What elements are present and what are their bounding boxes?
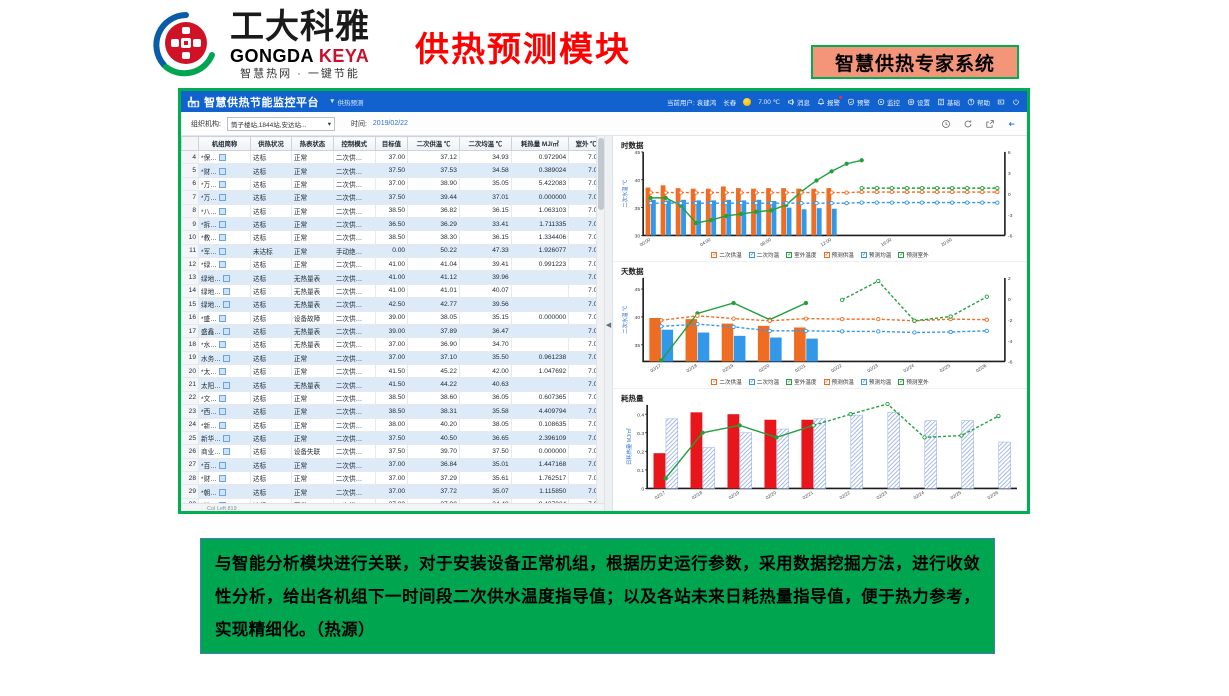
- topbar-item-logout[interactable]: [997, 98, 1005, 106]
- cell-unit-name: *教…: [199, 231, 251, 244]
- legend-checkbox[interactable]: [749, 379, 755, 385]
- cell-target: 37.50: [375, 191, 407, 204]
- brand-text: 工大科雅 GONGDA KEYA 智慧热网 · 一键节能: [230, 10, 370, 80]
- row-index: 24: [182, 418, 199, 431]
- cell-supply-temp: 42.77: [408, 298, 460, 311]
- cell-supply-temp: 37.89: [408, 324, 460, 337]
- cell-avg-temp: 33.41: [459, 217, 511, 230]
- svg-text:02/25: 02/25: [950, 489, 963, 499]
- chart-legend-daily: 二次供温二次均温室外温度预测供温预测均温预测室外: [613, 378, 1027, 386]
- svg-text:35: 35: [635, 343, 641, 349]
- row-index: 18: [182, 338, 199, 351]
- detail-icon[interactable]: [223, 355, 230, 362]
- cell-supply-temp: 41.01: [408, 284, 460, 297]
- cell-unit-name: *盛…: [199, 311, 251, 324]
- legend-checkbox[interactable]: [824, 379, 830, 385]
- table-row[interactable]: 17盛鑫…达标无热量表二次供…39.0037.8936.477.00: [182, 324, 604, 337]
- cell-supply-status: 达标: [251, 258, 292, 271]
- cell-supply-status: 达标: [251, 191, 292, 204]
- chevron-down-icon: ▾: [328, 120, 331, 128]
- cell-avg-temp: 47.33: [459, 244, 511, 257]
- cell-heat: 0.000000: [511, 191, 569, 204]
- cell-supply-status: 达标: [251, 324, 292, 337]
- detail-icon[interactable]: [219, 234, 226, 241]
- topbar-item-basic[interactable]: 基础: [937, 97, 960, 107]
- brand-name-cn: 工大科雅: [230, 10, 370, 44]
- cell-control-mode: 二次供…: [333, 378, 375, 391]
- legend-checkbox[interactable]: [861, 252, 867, 258]
- detail-icon[interactable]: [219, 181, 226, 188]
- cell-target: 38.00: [375, 418, 407, 431]
- cell-supply-status: 达标: [251, 271, 292, 284]
- cell-avg-temp: 39.56: [459, 298, 511, 311]
- table-row[interactable]: 11*军…未达标正常手动绝…0.0050.2247.331.9260777.00: [182, 244, 604, 257]
- cell-control-mode: 二次供…: [333, 418, 375, 431]
- cell-heat: [511, 338, 569, 351]
- svg-text:02/21: 02/21: [794, 363, 807, 373]
- cell-meter-status: 正常: [291, 231, 333, 244]
- table-scrollbar-thumb[interactable]: [598, 138, 604, 210]
- cell-heat: 0.108635: [511, 418, 569, 431]
- legend-item[interactable]: 预测均温: [861, 251, 891, 259]
- legend-checkbox[interactable]: [824, 252, 830, 258]
- cell-unit-name: *朝…: [199, 485, 251, 498]
- cell-supply-status: 达标: [251, 177, 292, 190]
- svg-text:0.2: 0.2: [637, 449, 644, 455]
- cell-supply-temp: 39.44: [408, 191, 460, 204]
- table-row[interactable]: 21太阳…达标无热量表二次供…41.5044.2240.637.00: [182, 378, 604, 391]
- row-index: 27: [182, 458, 199, 471]
- topbar-item-messages-label: 消息: [797, 97, 810, 107]
- row-index: 13: [182, 271, 199, 284]
- table-row[interactable]: 9*拆…达标正常二次供…36.5036.2933.411.7113357.00: [182, 217, 604, 230]
- cell-meter-status: 正常: [291, 458, 333, 471]
- legend-item[interactable]: 预测均温: [861, 378, 891, 386]
- topbar-item-monitor[interactable]: 监控: [877, 97, 900, 107]
- cell-heat: 1.711335: [511, 217, 569, 230]
- unit-table-pane: 机组简称 供热状况 热表状态 控制模式 目标值 二次供温 ℃ 二次均温 ℃ 耗热…: [181, 136, 605, 514]
- cell-supply-temp: 36.29: [408, 217, 460, 230]
- cell-meter-status: 正常: [291, 418, 333, 431]
- cell-control-mode: 二次供…: [333, 298, 375, 311]
- cell-supply-status: 达标: [251, 445, 292, 458]
- cell-control-mode: 二次供…: [333, 151, 375, 164]
- cell-supply-status: 达标: [251, 405, 292, 418]
- cell-control-mode: 二次供…: [333, 231, 375, 244]
- chart-heat: 00.10.20.30.4日耗热量 MJ/㎡02/1702/1802/1902/…: [613, 389, 1027, 514]
- cell-target: 37.50: [375, 431, 407, 444]
- detail-icon[interactable]: [223, 288, 230, 295]
- cell-avg-temp: 34.58: [459, 164, 511, 177]
- cell-meter-status: 正常: [291, 204, 333, 217]
- cell-supply-status: 达标: [251, 431, 292, 444]
- export-icon[interactable]: [985, 119, 995, 129]
- legend-label: 二次均温: [757, 251, 779, 259]
- cell-control-mode: 二次供…: [333, 365, 375, 378]
- cell-avg-temp: 39.96: [459, 271, 511, 284]
- row-index: 26: [182, 445, 199, 458]
- col-target[interactable]: 目标值: [375, 137, 407, 151]
- cell-meter-status: 正常: [291, 391, 333, 404]
- time-value[interactable]: 2019/02/22: [373, 120, 408, 127]
- table-row[interactable]: 10*教…达标正常二次供…38.5038.3036.151.3344067.00: [182, 231, 604, 244]
- cell-meter-status: 正常: [291, 431, 333, 444]
- cell-supply-temp: 37.10: [408, 351, 460, 364]
- cell-supply-status: 达标: [251, 204, 292, 217]
- table-row[interactable]: 26商业…达标设备失联二次供…37.5039.7037.500.0000007.…: [182, 445, 604, 458]
- pane-collapse-handle[interactable]: ◀: [605, 136, 613, 514]
- cell-target: 39.00: [375, 324, 407, 337]
- cell-avg-temp: 40.07: [459, 284, 511, 297]
- legend-label: 预测均温: [869, 251, 891, 259]
- current-user-name: 袁建鸿: [697, 97, 717, 107]
- table-row[interactable]: 7*万…达标正常二次供…37.5039.4437.010.0000007.00: [182, 191, 604, 204]
- cell-target: 41.00: [375, 284, 407, 297]
- detail-icon[interactable]: [223, 448, 230, 455]
- detail-icon[interactable]: [219, 408, 226, 415]
- factory-chart-icon: [187, 95, 200, 108]
- cell-unit-name: 盛鑫…: [199, 324, 251, 337]
- collapse-arrow-icon[interactable]: [1007, 119, 1017, 129]
- cell-supply-temp: 38.60: [408, 391, 460, 404]
- detail-icon[interactable]: [223, 328, 230, 335]
- detail-icon[interactable]: [219, 462, 226, 469]
- row-index: 4: [182, 151, 199, 164]
- table-row[interactable]: 28*财…达标正常二次供…37.0037.2935.611.7625177.00: [182, 472, 604, 485]
- cell-unit-name: *万…: [199, 191, 251, 204]
- cell-unit-name: *财…: [199, 164, 251, 177]
- cell-target: 38.50: [375, 391, 407, 404]
- cell-meter-status: 正常: [291, 485, 333, 498]
- table-row[interactable]: 12*绿…达标正常二次供…41.0041.0439.410.9912237.00: [182, 258, 604, 271]
- legend-label: 预测供温: [832, 251, 854, 259]
- col-heat[interactable]: 耗热量 MJ/㎡: [511, 137, 569, 151]
- cell-control-mode: 二次供…: [333, 324, 375, 337]
- table-row[interactable]: 8*八…达标正常二次供…38.5036.8236.151.0631037.00: [182, 204, 604, 217]
- table-row[interactable]: 5*财…达标正常二次供…37.5037.5334.580.3890247.00: [182, 164, 604, 177]
- col-control-mode[interactable]: 控制模式: [333, 137, 375, 151]
- col-unit-name[interactable]: 机组简称: [199, 137, 251, 151]
- cell-unit-name: 水务…: [199, 351, 251, 364]
- col-avg-temp[interactable]: 二次均温 ℃: [459, 137, 511, 151]
- cell-supply-status: 达标: [251, 338, 292, 351]
- table-scrollbar[interactable]: [596, 136, 604, 514]
- legend-label: 二次供温: [719, 378, 741, 386]
- legend-item[interactable]: 二次均温: [749, 251, 779, 259]
- cell-unit-name: *水…: [199, 338, 251, 351]
- topbar-item-messages[interactable]: 消息: [787, 97, 810, 107]
- cell-control-mode: 二次供…: [333, 217, 375, 230]
- city-label: 长春: [723, 97, 736, 107]
- cell-target: 36.50: [375, 217, 407, 230]
- topbar-item-basic-label: 基础: [947, 97, 960, 107]
- cell-avg-temp: 36.65: [459, 431, 511, 444]
- cell-unit-name: *八…: [199, 204, 251, 217]
- svg-text:0.3: 0.3: [637, 431, 644, 437]
- detail-icon[interactable]: [219, 248, 226, 255]
- cell-supply-temp: 41.04: [408, 258, 460, 271]
- cell-control-mode: 二次供…: [333, 445, 375, 458]
- cell-meter-status: 正常: [291, 351, 333, 364]
- table-row[interactable]: 6*万…达标正常二次供…37.0038.9035.055.4220837.00: [182, 177, 604, 190]
- legend-item[interactable]: 预测供温: [824, 378, 854, 386]
- svg-text:30: 30: [635, 234, 641, 240]
- cell-target: 42.50: [375, 298, 407, 311]
- detail-icon[interactable]: [219, 261, 226, 268]
- cell-meter-status: 设备失联: [291, 445, 333, 458]
- cell-supply-status: 达标: [251, 418, 292, 431]
- row-index: 7: [182, 191, 199, 204]
- topbar-item-alarm[interactable]: 报警: [817, 97, 840, 107]
- org-select[interactable]: 筒子楼站,1844站,安达站... ▾: [227, 117, 335, 131]
- detail-icon[interactable]: [219, 368, 226, 375]
- legend-label: 室外温度: [794, 378, 816, 386]
- cell-unit-name: *万…: [199, 177, 251, 190]
- row-index: 19: [182, 351, 199, 364]
- cell-control-mode: 二次供…: [333, 391, 375, 404]
- cell-control-mode: 二次供…: [333, 351, 375, 364]
- cell-supply-status: 未达标: [251, 244, 292, 257]
- cell-supply-temp: 39.70: [408, 445, 460, 458]
- brand-name-en-keya: KEYA: [319, 46, 369, 66]
- brand-block: 工大科雅 GONGDA KEYA 智慧热网 · 一键节能: [152, 10, 370, 80]
- table-row[interactable]: 19水务…达标正常二次供…37.0037.1035.500.9612387.00: [182, 351, 604, 364]
- legend-checkbox[interactable]: [786, 252, 792, 258]
- cell-heat: 0.389024: [511, 164, 569, 177]
- cell-meter-status: 正常: [291, 365, 333, 378]
- caption-box: 与智能分析模块进行关联，对于安装设备正常机组，根据历史运行参数，采用数据挖掘方法…: [200, 538, 995, 654]
- cell-control-mode: 二次供…: [333, 164, 375, 177]
- detail-icon[interactable]: [219, 422, 226, 429]
- legend-item[interactable]: 预测室外: [898, 251, 928, 259]
- cell-heat: 0.972904: [511, 151, 569, 164]
- cell-supply-status: 达标: [251, 151, 292, 164]
- cell-meter-status: 正常: [291, 164, 333, 177]
- detail-icon[interactable]: [223, 301, 230, 308]
- cell-target: 41.50: [375, 378, 407, 391]
- svg-text:45: 45: [635, 150, 641, 156]
- detail-icon[interactable]: [219, 341, 226, 348]
- legend-item[interactable]: 二次供温: [711, 251, 741, 259]
- detail-icon[interactable]: [219, 395, 226, 402]
- cell-heat: 4.409794: [511, 405, 569, 418]
- table-row[interactable]: 13绿地…达标无热量表二次供…41.0041.1239.967.00: [182, 271, 604, 284]
- cell-meter-status: 无热量表: [291, 284, 333, 297]
- detail-icon[interactable]: [219, 208, 226, 215]
- topbar-item-warning[interactable]: 预警: [847, 97, 870, 107]
- table-row[interactable]: 29*朝…达标正常二次供…37.0037.7235.071.1158507.00: [182, 485, 604, 498]
- legend-item[interactable]: 室外温度: [786, 378, 816, 386]
- cell-supply-temp: 40.20: [408, 418, 460, 431]
- cell-control-mode: 二次供…: [333, 204, 375, 217]
- legend-checkbox[interactable]: [749, 252, 755, 258]
- row-index: 28: [182, 472, 199, 485]
- cell-heat: [511, 378, 569, 391]
- svg-text:0: 0: [1008, 297, 1011, 303]
- cell-control-mode: 二次供…: [333, 431, 375, 444]
- legend-label: 预测供温: [832, 378, 854, 386]
- cell-control-mode: 手动绝…: [333, 244, 375, 257]
- legend-item[interactable]: 预测供温: [824, 251, 854, 259]
- gear-icon: [907, 98, 915, 106]
- cell-unit-name: 绿地…: [199, 271, 251, 284]
- row-index: 20: [182, 365, 199, 378]
- charts-pane: 时数据 30354045-6-3036二次水温 ℃00:0004:0008:00…: [613, 136, 1027, 514]
- cell-heat: [511, 298, 569, 311]
- legend-item[interactable]: 二次均温: [749, 378, 779, 386]
- bell-icon: [817, 98, 825, 106]
- col-supply-status[interactable]: 供热状况: [251, 137, 292, 151]
- legend-label: 预测室外: [906, 251, 928, 259]
- legend-item[interactable]: 室外温度: [786, 251, 816, 259]
- detail-icon[interactable]: [223, 275, 230, 282]
- table-row[interactable]: 23*西…达标正常二次供…38.5038.3135.584.4097947.00: [182, 405, 604, 418]
- row-index: 17: [182, 324, 199, 337]
- cell-unit-name: 绿地…: [199, 284, 251, 297]
- table-row[interactable]: 25新华…达标正常二次供…37.5040.5036.652.3961097.00: [182, 431, 604, 444]
- table-row[interactable]: 22*文…达标正常二次供…38.5038.6036.050.6073657.00: [182, 391, 604, 404]
- topbar-item-help[interactable]: 帮助: [967, 97, 990, 107]
- chart-card-hourly: 时数据 30354045-6-3036二次水温 ℃00:0004:0008:00…: [613, 136, 1027, 262]
- detail-icon[interactable]: [219, 154, 226, 161]
- history-icon[interactable]: [941, 119, 951, 129]
- detail-icon[interactable]: [219, 489, 226, 496]
- refresh-icon[interactable]: [963, 119, 973, 129]
- cell-control-mode: 二次供…: [333, 284, 375, 297]
- current-user-label: 当前用户:: [667, 97, 695, 107]
- cell-target: 37.00: [375, 472, 407, 485]
- cell-avg-temp: 35.15: [459, 311, 511, 324]
- cell-meter-status: 正常: [291, 191, 333, 204]
- cell-supply-temp: 37.72: [408, 485, 460, 498]
- org-label: 组织机构:: [191, 119, 221, 129]
- chart-card-daily: 天数据 354045-6-4-202二次水温 ℃02/1702/1802/190…: [613, 262, 1027, 388]
- table-header-row: 机组简称 供热状况 热表状态 控制模式 目标值 二次供温 ℃ 二次均温 ℃ 耗热…: [182, 137, 604, 151]
- detail-icon[interactable]: [219, 315, 226, 322]
- cell-avg-temp: 39.41: [459, 258, 511, 271]
- svg-text:02/19: 02/19: [722, 363, 735, 373]
- detail-icon[interactable]: [219, 221, 226, 228]
- table-row[interactable]: 20*太…达标正常二次供…41.5045.2242.001.0476927.00: [182, 365, 604, 378]
- cell-target: 37.00: [375, 351, 407, 364]
- topbar-item-alarm-label: 报警: [827, 97, 840, 107]
- brand-name-en: GONGDA KEYA: [230, 47, 370, 65]
- cell-target: 37.50: [375, 164, 407, 177]
- cell-heat: 5.422083: [511, 177, 569, 190]
- cell-heat: [511, 324, 569, 337]
- detail-icon[interactable]: [223, 435, 230, 442]
- legend-label: 二次供温: [719, 251, 741, 259]
- cell-avg-temp: 34.93: [459, 151, 511, 164]
- table-footer: Col Left 819: [181, 503, 604, 514]
- cell-target: 37.00: [375, 338, 407, 351]
- cell-unit-name: *太…: [199, 365, 251, 378]
- cell-avg-temp: 35.58: [459, 405, 511, 418]
- table-row[interactable]: 15绿地…达标无热量表二次供…42.5042.7739.567.00: [182, 298, 604, 311]
- topbar-item-settings[interactable]: 设置: [907, 97, 930, 107]
- monitor-icon: [877, 98, 885, 106]
- module-selector[interactable]: ▼ 供热预测: [329, 97, 363, 107]
- svg-text:45: 45: [635, 288, 641, 294]
- legend-item[interactable]: 预测室外: [898, 378, 928, 386]
- cell-supply-temp: 45.22: [408, 365, 460, 378]
- legend-item[interactable]: 二次供温: [711, 378, 741, 386]
- cell-control-mode: 二次供…: [333, 271, 375, 284]
- cell-control-mode: 二次供…: [333, 472, 375, 485]
- legend-checkbox[interactable]: [711, 252, 717, 258]
- megaphone-icon: [787, 98, 795, 106]
- cell-meter-status: 正常: [291, 405, 333, 418]
- chart-hourly: 30354045-6-3036二次水温 ℃00:0004:0008:0012:0…: [613, 136, 1027, 261]
- row-index: 12: [182, 258, 199, 271]
- detail-icon[interactable]: [223, 382, 230, 389]
- svg-text:0.1: 0.1: [637, 468, 644, 474]
- svg-text:02/20: 02/20: [758, 363, 771, 373]
- cell-avg-temp: 35.61: [459, 472, 511, 485]
- cell-heat: 1.447168: [511, 458, 569, 471]
- topbar-item-power[interactable]: [1012, 98, 1020, 106]
- table-row[interactable]: 27*百…达标正常二次供…37.0036.8435.011.4471687.00: [182, 458, 604, 471]
- panel-actions: [941, 119, 1027, 129]
- detail-icon[interactable]: [219, 168, 226, 175]
- col-index[interactable]: [182, 137, 199, 151]
- app-topbar: 智慧供热节能监控平台 ▼ 供热预测 当前用户: 袁建鸿 长春 7.00 ℃ 消息…: [181, 91, 1027, 112]
- row-index: 21: [182, 378, 199, 391]
- col-supply-temp[interactable]: 二次供温 ℃: [408, 137, 460, 151]
- col-meter-status[interactable]: 热表状态: [291, 137, 333, 151]
- sun-icon: [743, 98, 751, 106]
- legend-checkbox[interactable]: [711, 379, 717, 385]
- svg-text:02/18: 02/18: [691, 489, 704, 499]
- legend-checkbox[interactable]: [786, 379, 792, 385]
- legend-checkbox[interactable]: [898, 252, 904, 258]
- table-row[interactable]: 14绿地…达标无热量表二次供…41.0041.0140.077.00: [182, 284, 604, 297]
- cell-supply-status: 达标: [251, 284, 292, 297]
- cell-meter-status: 正常: [291, 151, 333, 164]
- cell-unit-name: *西…: [199, 405, 251, 418]
- detail-icon[interactable]: [219, 475, 226, 482]
- cell-unit-name: 绿地…: [199, 298, 251, 311]
- svg-text:02/23: 02/23: [876, 489, 889, 499]
- cell-avg-temp: 36.15: [459, 231, 511, 244]
- status-badge: 智慧供热专家系统: [811, 45, 1019, 79]
- cell-target: 41.50: [375, 365, 407, 378]
- detail-icon[interactable]: [219, 194, 226, 201]
- cell-unit-name: 太阳…: [199, 378, 251, 391]
- cell-heat: 0.607365: [511, 391, 569, 404]
- cell-avg-temp: 35.01: [459, 458, 511, 471]
- chevron-down-icon: ▼: [329, 98, 335, 105]
- legend-checkbox[interactable]: [898, 379, 904, 385]
- cell-heat: [511, 271, 569, 284]
- table-row[interactable]: 24*新…达标正常二次供…38.0040.2038.050.1086357.00: [182, 418, 604, 431]
- table-row[interactable]: 18*水…达标无热量表二次供…37.0036.9034.707.00: [182, 338, 604, 351]
- cell-avg-temp: 36.05: [459, 391, 511, 404]
- cell-avg-temp: 35.50: [459, 351, 511, 364]
- brand-name-en-gongda: GONGDA: [230, 46, 319, 66]
- cell-supply-status: 达标: [251, 391, 292, 404]
- table-row[interactable]: 4*保…达标正常二次供…37.0037.1234.930.9729047.00: [182, 151, 604, 164]
- legend-checkbox[interactable]: [861, 379, 867, 385]
- cell-target: 41.00: [375, 271, 407, 284]
- topbar-item-settings-label: 设置: [917, 97, 930, 107]
- row-index: 6: [182, 177, 199, 190]
- svg-text:00:00: 00:00: [639, 237, 652, 247]
- svg-text:02/23: 02/23: [866, 363, 879, 373]
- cell-target: 41.00: [375, 258, 407, 271]
- svg-text:二次水温 ℃: 二次水温 ℃: [621, 305, 629, 334]
- table-row[interactable]: 16*盛…达标设备故障二次供…39.0038.0535.150.0000007.…: [182, 311, 604, 324]
